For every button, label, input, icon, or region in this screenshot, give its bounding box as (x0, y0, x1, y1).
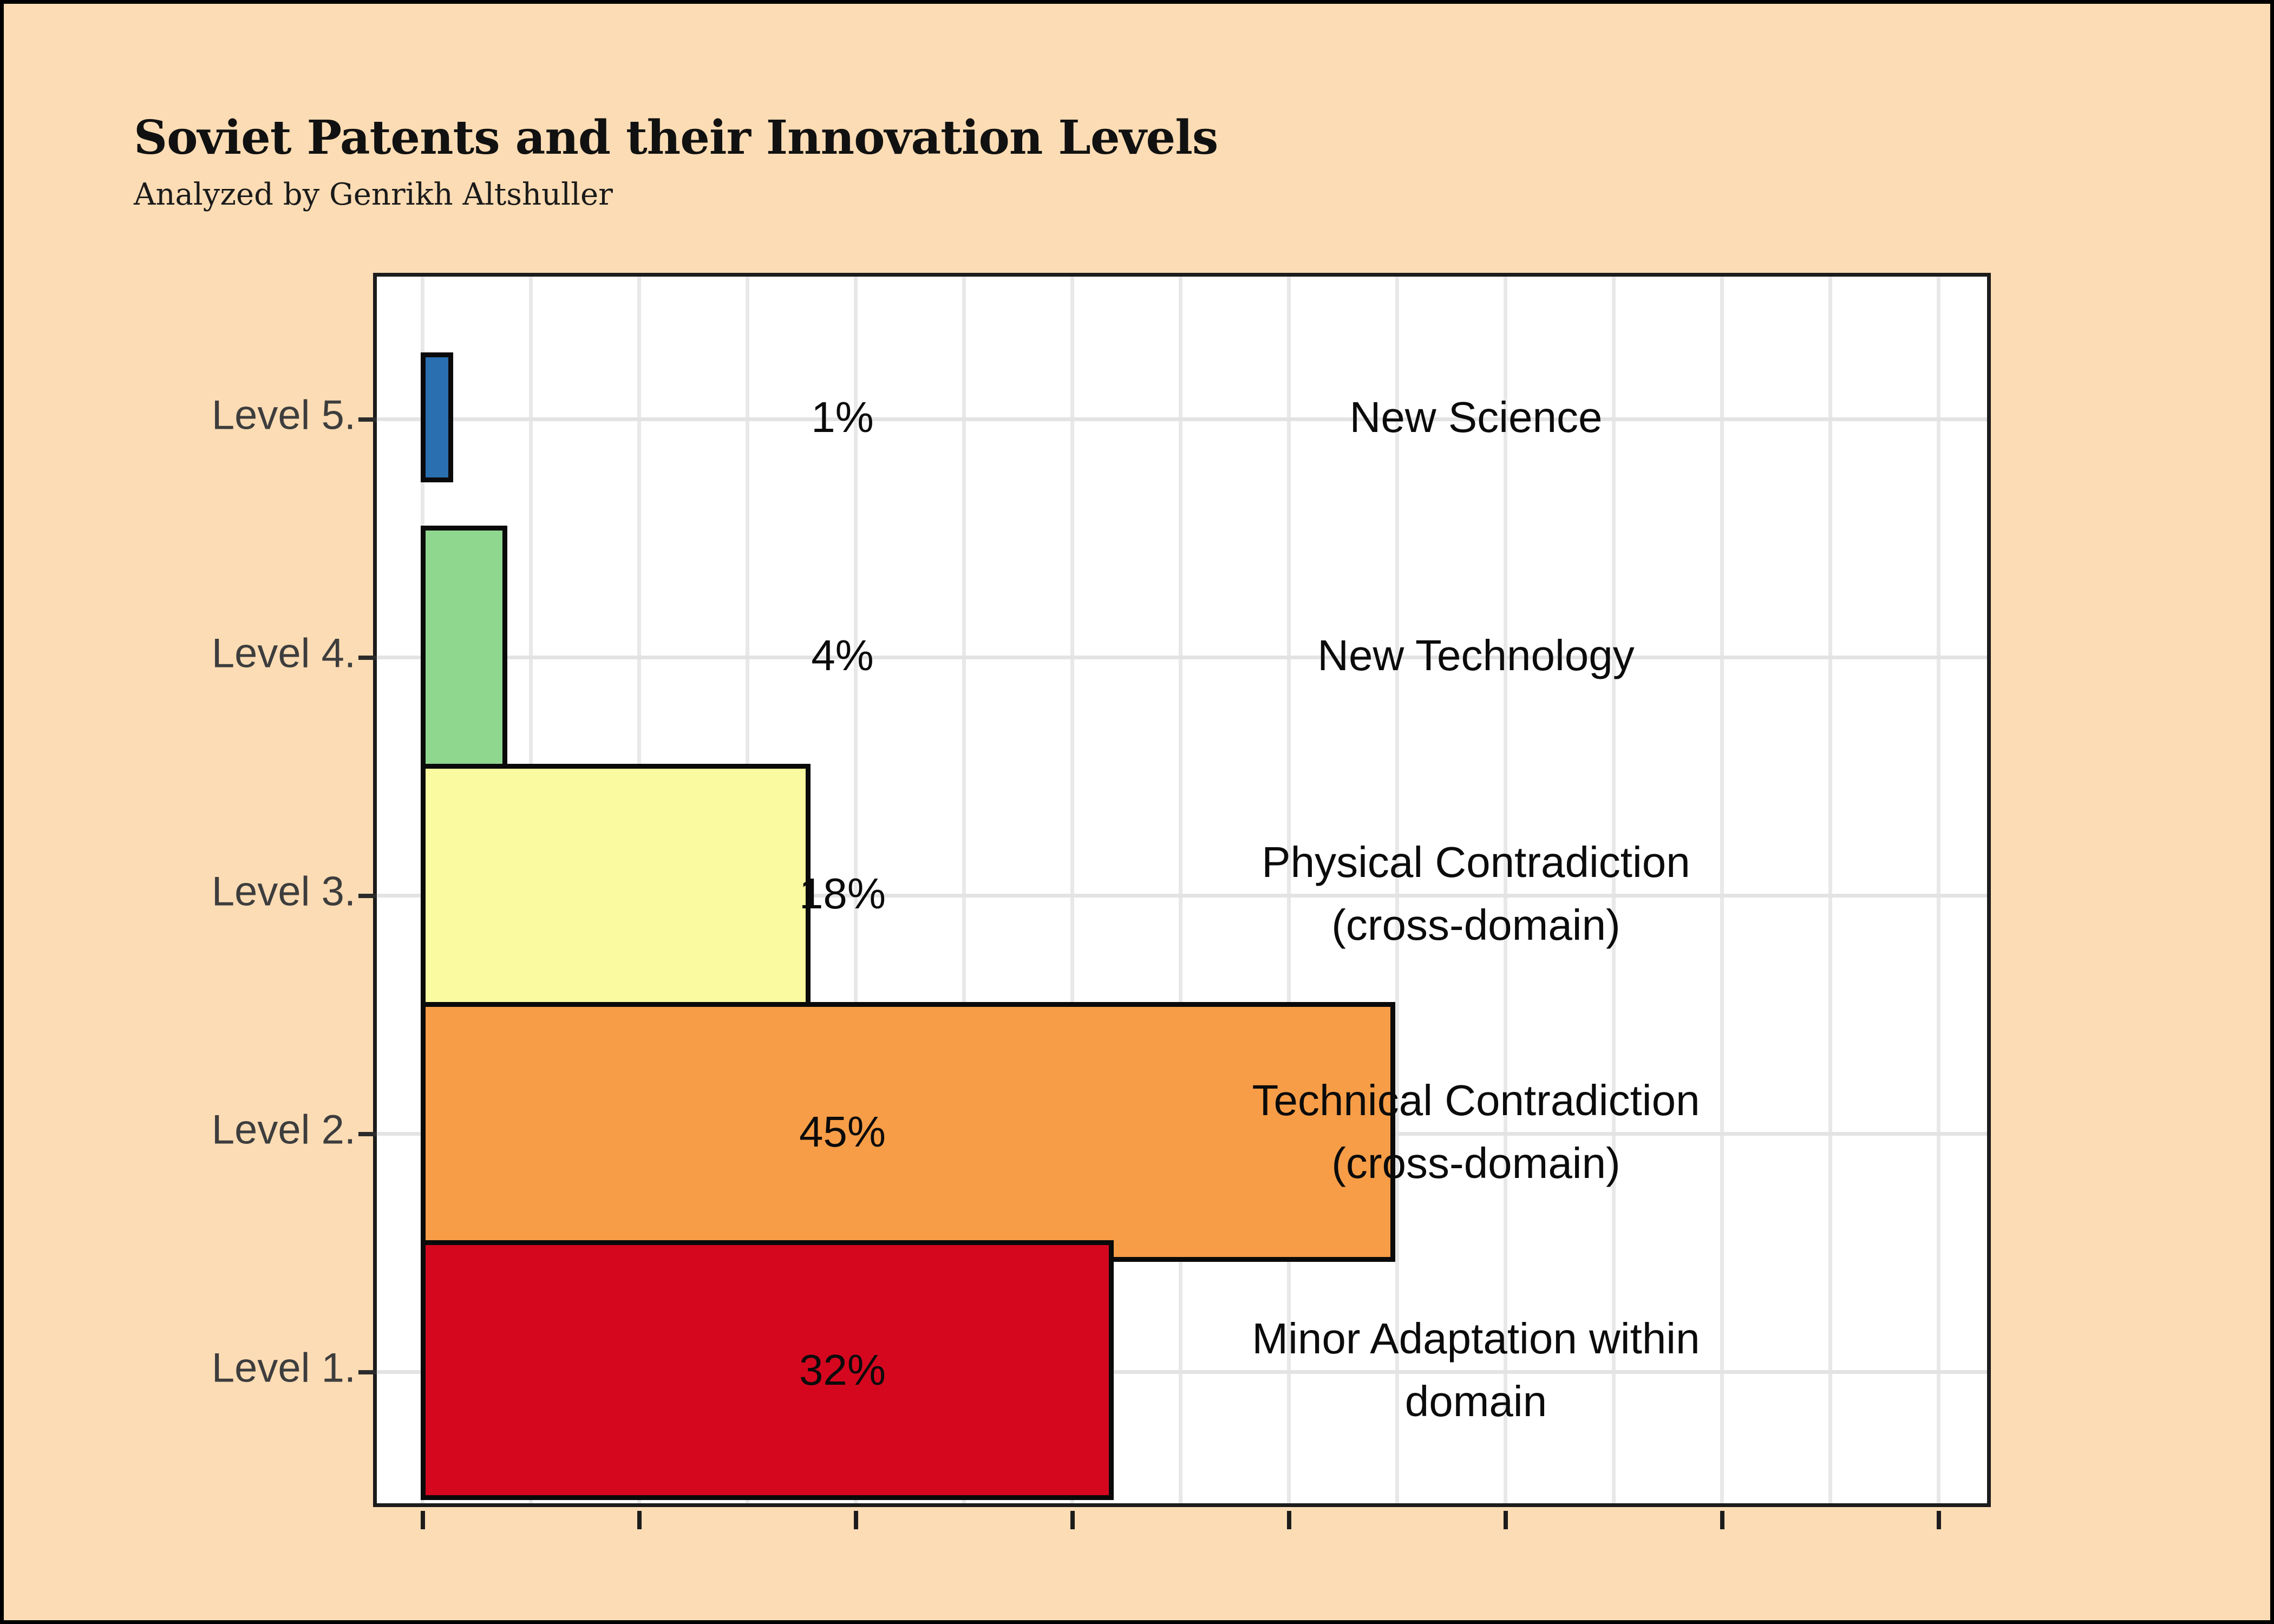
value-label-level-4: 4% (811, 634, 874, 677)
x-axis-tick (854, 1511, 858, 1529)
x-axis-tick (1070, 1511, 1075, 1529)
y-axis-tick (358, 894, 377, 898)
y-axis-label-level-5: Level 5. (212, 392, 356, 439)
x-axis-tick (1504, 1511, 1508, 1529)
chart-figure: Soviet Patents and their Innovation Leve… (0, 0, 2274, 1624)
gridline-horizontal (377, 417, 1987, 421)
chart-subtitle: Analyzed by Genrikh Altshuller (134, 180, 1218, 210)
gridline-vertical (1720, 277, 1724, 1503)
annotation-line-2: (cross-domain) (1252, 1132, 1700, 1195)
plot-area: 1% 4% 18% 45% 32% New Science New Techno… (373, 273, 1991, 1507)
gridline-horizontal (377, 656, 1987, 659)
value-label-level-3: 18% (799, 872, 886, 915)
y-axis-label-level-4: Level 4. (212, 630, 356, 677)
annotation-line-2: domain (1252, 1370, 1700, 1433)
annotation-level-4: New Technology (1317, 624, 1635, 687)
y-axis-tick (358, 1132, 377, 1136)
y-axis-tick (358, 417, 377, 422)
gridline-vertical (1937, 277, 1940, 1503)
annotation-line-1: Technical Contradiction (1252, 1076, 1700, 1124)
annotation-level-1: Minor Adaptation within domain (1252, 1307, 1700, 1433)
y-axis-tick (358, 1370, 377, 1374)
bar-level-2[interactable] (421, 1002, 1395, 1262)
annotation-line-2: (cross-domain) (1262, 894, 1690, 957)
value-label-level-1: 32% (799, 1348, 886, 1392)
y-axis-label-level-3: Level 3. (212, 868, 356, 915)
value-label-level-2: 45% (799, 1110, 886, 1154)
x-axis-tick (1287, 1511, 1291, 1529)
y-axis-label-level-1: Level 1. (212, 1345, 356, 1392)
gridline-vertical (1179, 277, 1182, 1503)
annotation-line-1: Minor Adaptation within (1252, 1314, 1700, 1363)
x-axis-tick (421, 1511, 425, 1529)
annotation-level-3: Physical Contradiction (cross-domain) (1262, 831, 1690, 957)
annotation-line-1: Physical Contradiction (1262, 838, 1690, 886)
gridline-vertical (1828, 277, 1832, 1503)
page-title: Soviet Patents and their Innovation Leve… (134, 115, 1218, 161)
bar-level-4[interactable] (421, 526, 507, 785)
title-block: Soviet Patents and their Innovation Leve… (134, 115, 1218, 210)
bar-level-3[interactable] (421, 764, 811, 1024)
x-axis-tick (1937, 1511, 1941, 1529)
annotation-line-1: New Science (1350, 393, 1603, 441)
x-axis-tick (637, 1511, 642, 1529)
y-axis-label-level-2: Level 2. (212, 1106, 356, 1154)
annotation-line-1: New Technology (1317, 631, 1635, 679)
bar-level-5[interactable] (421, 352, 453, 482)
bar-level-1[interactable] (421, 1240, 1114, 1500)
value-label-level-5: 1% (811, 396, 874, 439)
x-axis-tick (1720, 1511, 1724, 1529)
annotation-level-2: Technical Contradiction (cross-domain) (1252, 1069, 1700, 1195)
annotation-level-5: New Science (1350, 386, 1603, 449)
y-axis-tick (358, 656, 377, 660)
